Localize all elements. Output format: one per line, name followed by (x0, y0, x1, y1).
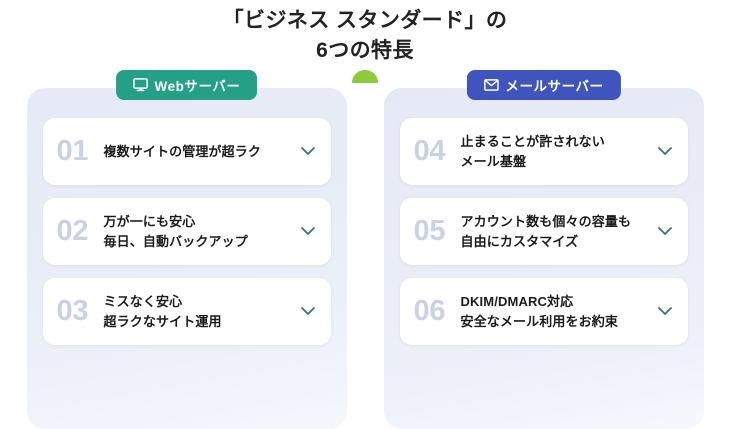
feature-card-text: ミスなく安心 超ラクなサイト運用 (104, 292, 298, 330)
feature-card-text: DKIM/DMARC対応 安全なメール利用をお約束 (461, 292, 655, 330)
feature-card-02[interactable]: 02 万が一にも安心 毎日、自動バックアップ (43, 198, 331, 265)
badge-web-server: Webサーバー (116, 70, 258, 100)
feature-card-line-1: アカウント数も個々の容量も (461, 214, 632, 229)
feature-card-text: アカウント数も個々の容量も 自由にカスタマイズ (461, 212, 655, 250)
feature-card-line-1: DKIM/DMARC対応 (461, 294, 574, 309)
feature-card-line-2: メール基盤 (461, 152, 655, 171)
feature-card-03[interactable]: 03 ミスなく安心 超ラクなサイト運用 (43, 278, 331, 345)
feature-card-list-mail: 04 止まることが許されない メール基盤 05 アカウント数も個々の容量も 自由… (400, 118, 688, 345)
panel-mail-server: メールサーバー 04 止まることが許されない メール基盤 05 アカウント数も個 (384, 88, 704, 429)
feature-card-line-1: 万が一にも安心 (104, 214, 196, 229)
feature-card-text: 複数サイトの管理が超ラク (104, 142, 298, 161)
chevron-down-icon[interactable] (655, 307, 675, 316)
chevron-down-icon[interactable] (298, 307, 318, 316)
green-dome-accent-icon (352, 70, 378, 83)
feature-card-number: 03 (57, 297, 104, 326)
heading-accent-wrap (0, 70, 730, 83)
feature-card-line-1: 複数サイトの管理が超ラク (104, 144, 262, 159)
feature-card-04[interactable]: 04 止まることが許されない メール基盤 (400, 118, 688, 185)
feature-card-05[interactable]: 05 アカウント数も個々の容量も 自由にカスタマイズ (400, 198, 688, 265)
badge-mail-server: メールサーバー (466, 70, 620, 100)
feature-card-number: 04 (414, 137, 461, 166)
page-title: 「ビジネス スタンダード」の 6つの特長 (0, 0, 730, 83)
monitor-icon (133, 78, 148, 92)
feature-card-06[interactable]: 06 DKIM/DMARC対応 安全なメール利用をお約束 (400, 278, 688, 345)
feature-card-01[interactable]: 01 複数サイトの管理が超ラク (43, 118, 331, 185)
page-title-line-2: 6つの特長 (0, 36, 730, 66)
feature-card-line-2: 安全なメール利用をお約束 (461, 312, 655, 331)
feature-card-text: 止まることが許されない メール基盤 (461, 132, 655, 170)
feature-card-number: 02 (57, 217, 104, 246)
feature-card-number: 05 (414, 217, 461, 246)
feature-card-line-2: 自由にカスタマイズ (461, 232, 655, 251)
chevron-down-icon[interactable] (655, 227, 675, 236)
panel-web-server: Webサーバー 01 複数サイトの管理が超ラク 02 万が一にも安心 毎日、自動 (27, 88, 347, 429)
envelope-icon (483, 79, 498, 91)
feature-card-line-1: 止まることが許されない (461, 134, 605, 149)
feature-card-text: 万が一にも安心 毎日、自動バックアップ (104, 212, 298, 250)
feature-card-number: 01 (57, 137, 104, 166)
chevron-down-icon[interactable] (655, 147, 675, 156)
feature-card-number: 06 (414, 297, 461, 326)
feature-card-line-2: 超ラクなサイト運用 (104, 312, 298, 331)
page-title-line-1: 「ビジネス スタンダード」の (0, 6, 730, 36)
chevron-down-icon[interactable] (298, 147, 318, 156)
badge-web-server-label: Webサーバー (155, 75, 241, 95)
feature-columns: Webサーバー 01 複数サイトの管理が超ラク 02 万が一にも安心 毎日、自動 (0, 88, 730, 429)
feature-card-line-2: 毎日、自動バックアップ (104, 232, 298, 251)
chevron-down-icon[interactable] (298, 227, 318, 236)
feature-card-line-1: ミスなく安心 (104, 294, 183, 309)
feature-card-list-web: 01 複数サイトの管理が超ラク 02 万が一にも安心 毎日、自動バックアップ (43, 118, 331, 345)
badge-mail-server-label: メールサーバー (505, 75, 603, 95)
